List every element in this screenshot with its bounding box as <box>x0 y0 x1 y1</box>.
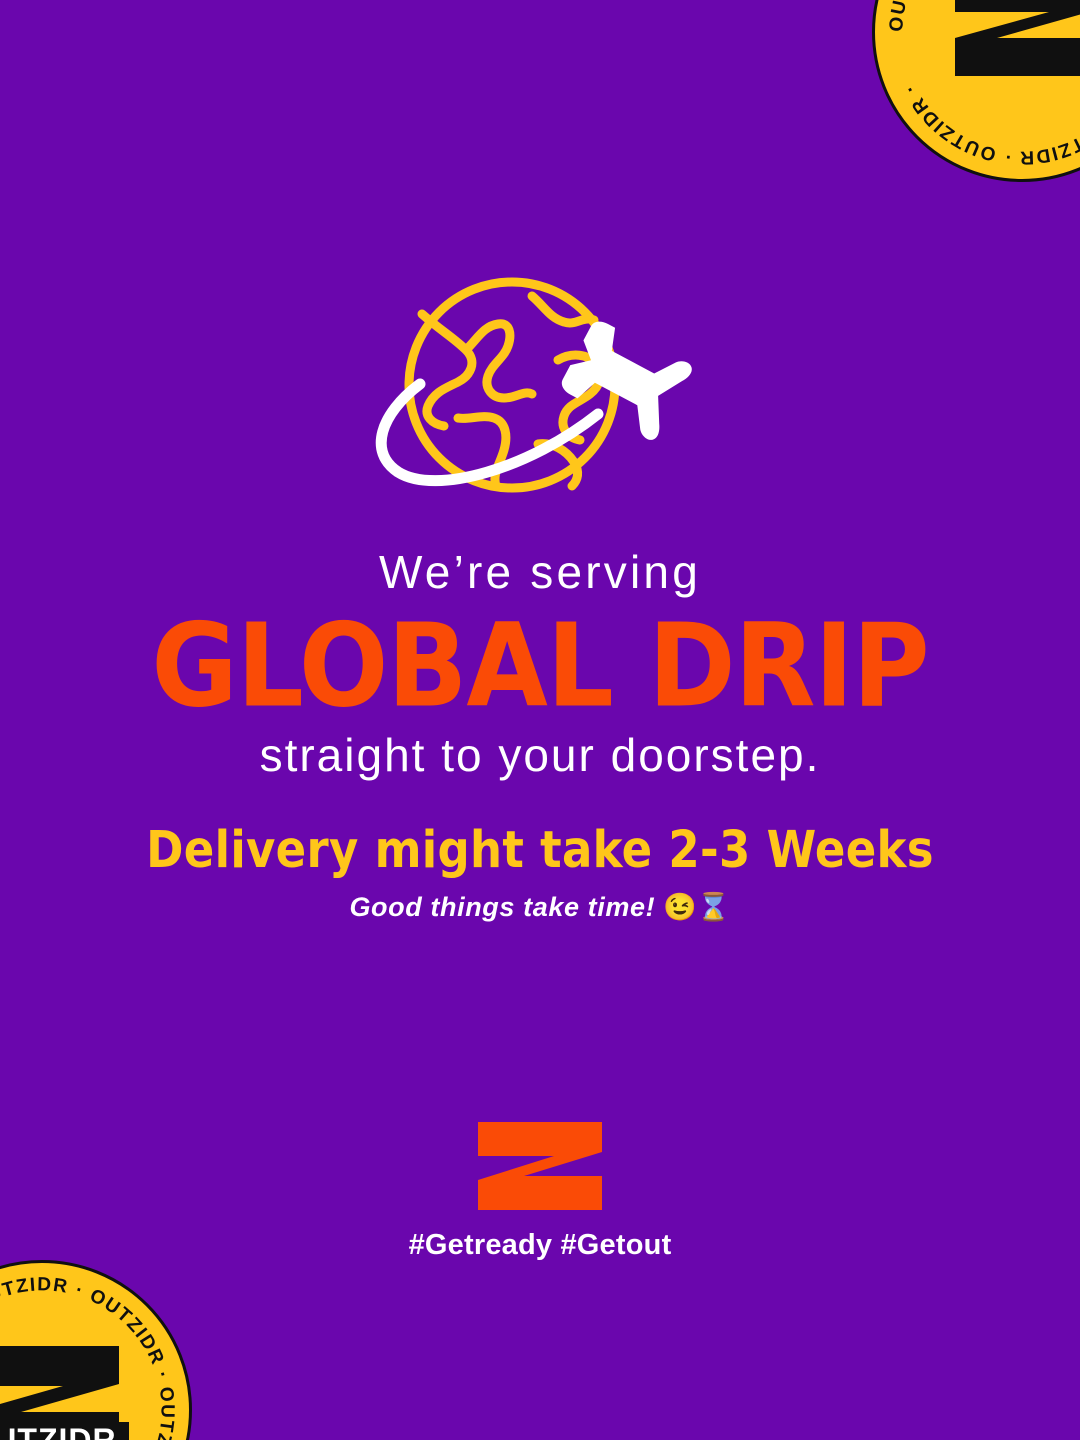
footer-brand: #Getready #Getout <box>0 1122 1080 1262</box>
outzidr-badge-top-right: OUTZIDR · OUTZIDR · OUTZIDR · OUTZIDR · … <box>872 0 1080 182</box>
badge-z-glyph-bl: OUTZIDR <box>0 1344 133 1440</box>
headline-block: We’re serving GLOBAL DRIP straight to yo… <box>0 548 1080 779</box>
footer-hashtags: #Getready #Getout <box>409 1229 672 1262</box>
badge-core-mark-bl: OUTZIDR <box>0 1344 133 1440</box>
globe-airplane-icon <box>362 272 718 508</box>
badge-core-mark-tr <box>931 0 1080 92</box>
promo-poster: { "theme": { "background": "#6A06AD", "a… <box>0 0 1080 1440</box>
wink-hourglass-emoji: 😉⌛ <box>663 892 730 922</box>
outzidr-z-logo <box>478 1122 602 1210</box>
badge-wordmark-bl: OUTZIDR <box>0 1422 117 1440</box>
delivery-subtext-label: Good things take time! <box>349 892 655 922</box>
headline-line-1: We’re serving <box>0 548 1080 597</box>
headline-line-3: straight to your doorstep. <box>0 731 1080 780</box>
outzidr-badge-bottom-left: OUTZIDR · OUTZIDR · OUTZIDR · OUTZIDR · … <box>0 1260 192 1440</box>
headline-main: GLOBAL DRIP <box>0 609 1080 726</box>
delivery-headline: Delivery might take 2-3 Weeks <box>0 820 1080 879</box>
delivery-notice: Delivery might take 2-3 Weeks Good thing… <box>0 820 1080 923</box>
badge-z-glyph-tr <box>931 0 1080 92</box>
delivery-subtext: Good things take time! 😉⌛ <box>0 891 1080 923</box>
